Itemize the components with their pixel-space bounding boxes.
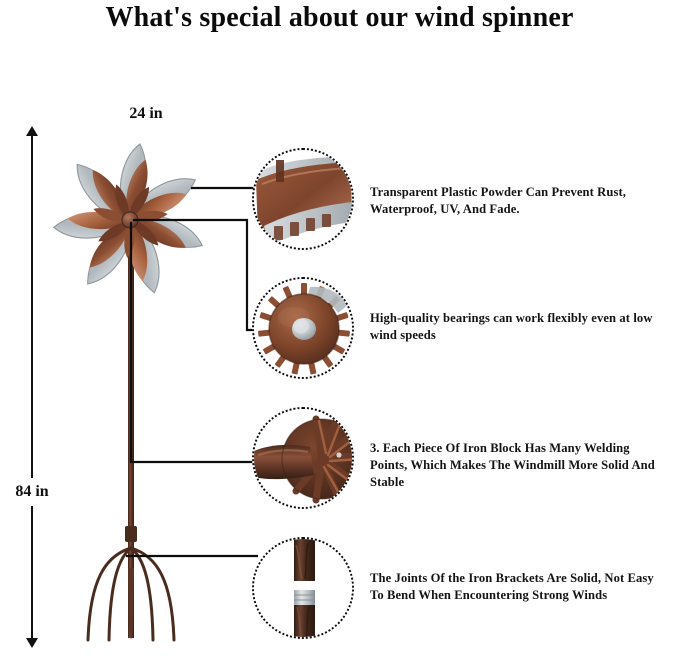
feature-text-joints: The Joints Of the Iron Brackets Are Soli… — [370, 570, 670, 604]
feature-text-welding: 3. Each Piece Of Iron Block Has Many Wel… — [370, 440, 670, 491]
callout-welding — [252, 407, 354, 509]
upper-pole-segment — [294, 539, 315, 581]
callout-coating — [252, 148, 354, 250]
width-dimension: 24 in — [58, 104, 234, 124]
page-title: What's special about our wind spinner — [0, 2, 679, 34]
feature-text-coating: Transparent Plastic Powder Can Prevent R… — [370, 184, 670, 218]
feature-text-bearings: High-quality bearings can work flexibly … — [370, 310, 670, 344]
metal-joint-sleeve — [294, 590, 315, 605]
wind-spinner-illustration — [10, 128, 260, 648]
width-dimension-label-wrap: 24 in — [58, 104, 234, 124]
callout-bearings — [252, 277, 354, 379]
weld-spot — [336, 452, 341, 457]
width-dimension-label: 24 in — [119, 105, 172, 122]
spinner-hub — [122, 212, 138, 228]
callout-joints — [252, 537, 354, 639]
